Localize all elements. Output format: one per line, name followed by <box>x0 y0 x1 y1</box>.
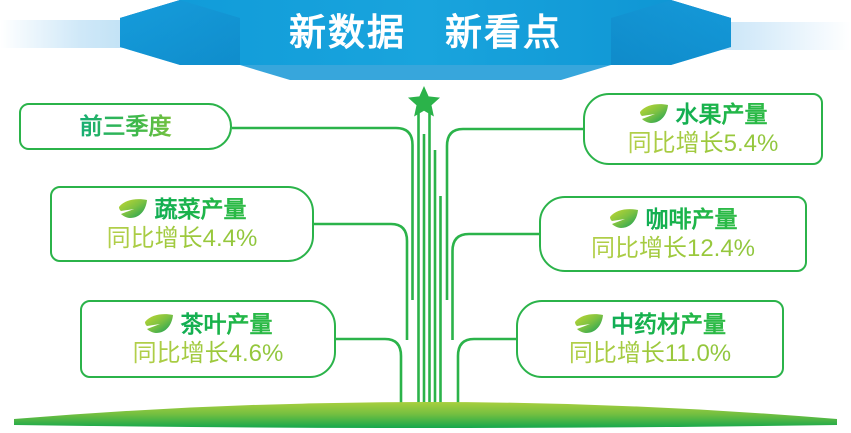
card-coffee[interactable]: 咖啡产量 同比增长12.4% <box>539 196 807 272</box>
card-coffee-subtitle: 同比增长12.4% <box>591 234 755 263</box>
card-herb-title-row: 中药材产量 <box>574 311 726 338</box>
leaf-icon <box>639 103 669 125</box>
card-tea-title: 茶叶产量 <box>181 311 273 338</box>
banner-title: 新数据 新看点 <box>0 10 851 56</box>
card-tea-subtitle: 同比增长4.6% <box>133 339 284 368</box>
card-vegetable-subtitle: 同比增长4.4% <box>107 224 258 253</box>
card-vegetable[interactable]: 蔬菜产量 同比增长4.4% <box>50 186 314 262</box>
card-coffee-title: 咖啡产量 <box>646 206 738 233</box>
card-vegetable-title: 蔬菜产量 <box>155 196 247 223</box>
card-fruit-title: 水果产量 <box>676 101 768 128</box>
card-coffee-title-row: 咖啡产量 <box>609 206 738 233</box>
card-tea-title-row: 茶叶产量 <box>144 311 273 338</box>
card-period-title: 前三季度 <box>80 113 172 140</box>
leaf-icon <box>574 313 604 335</box>
infographic-root: 新数据 新看点 <box>0 0 851 433</box>
card-fruit[interactable]: 水果产量 同比增长5.4% <box>583 93 823 165</box>
card-period-label[interactable]: 前三季度 <box>19 103 232 150</box>
card-fruit-title-row: 水果产量 <box>639 101 768 128</box>
leaf-icon <box>118 198 148 220</box>
card-herb-title: 中药材产量 <box>611 311 726 338</box>
star-icon <box>408 86 440 117</box>
branch-herb <box>458 339 516 404</box>
card-herb-subtitle: 同比增长11.0% <box>569 339 731 368</box>
leaf-icon <box>144 313 174 335</box>
card-herb[interactable]: 中药材产量 同比增长11.0% <box>516 300 784 378</box>
card-fruit-subtitle: 同比增长5.4% <box>628 129 779 158</box>
card-vegetable-title-row: 蔬菜产量 <box>118 196 247 223</box>
leaf-icon <box>609 208 639 230</box>
branch-tea <box>336 339 401 404</box>
ground-hill <box>14 402 837 428</box>
card-tea[interactable]: 茶叶产量 同比增长4.6% <box>80 300 336 378</box>
